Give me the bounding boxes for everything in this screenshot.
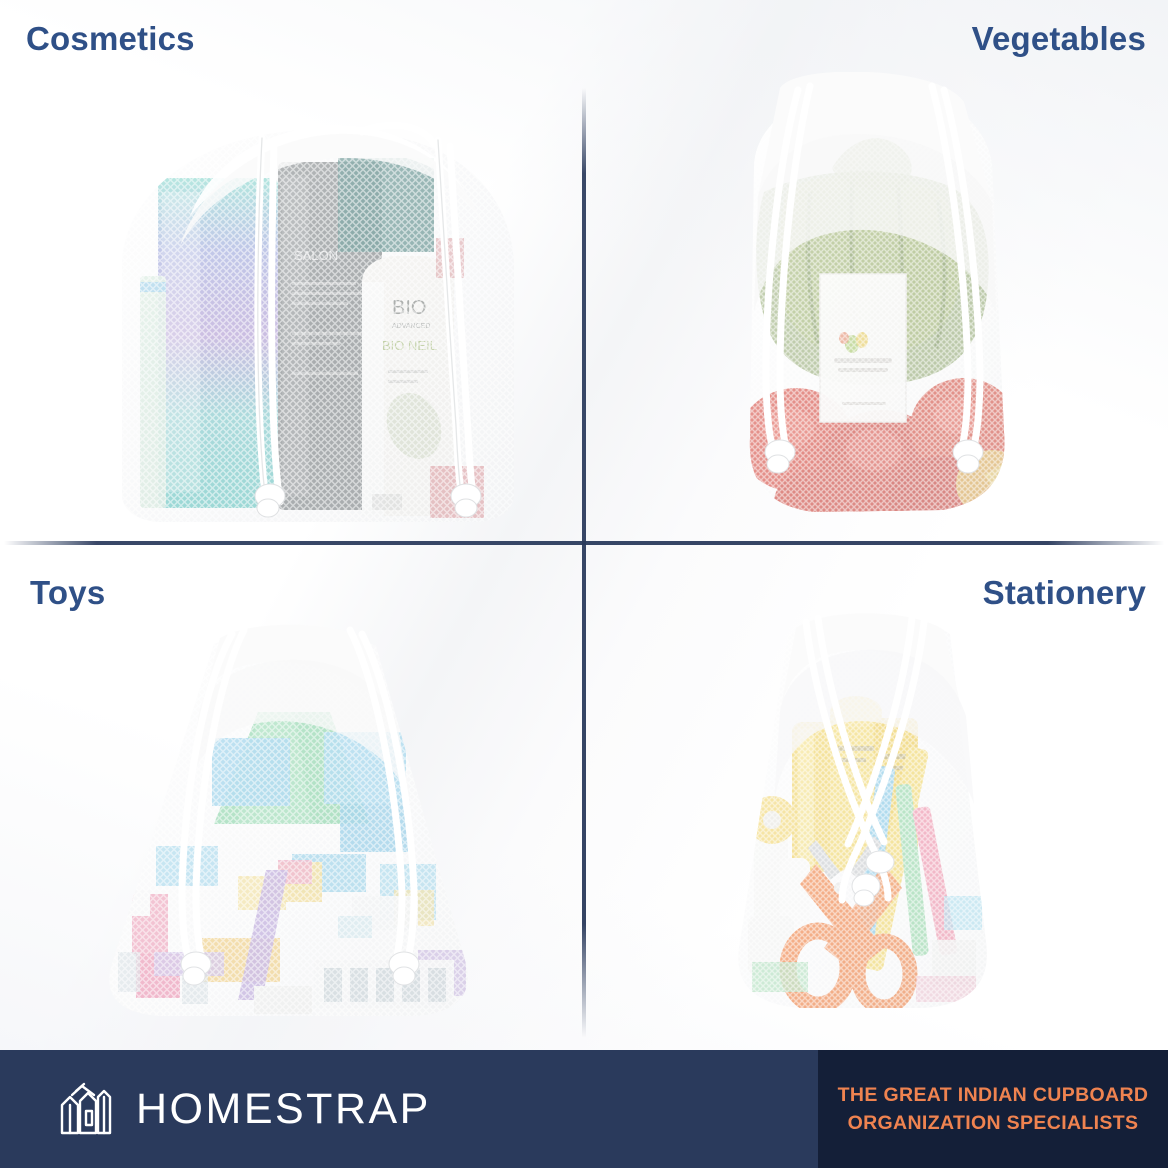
- quadrant-label-stationery: Stationery: [983, 574, 1146, 612]
- quadrant-label-toys: Toys: [30, 574, 105, 612]
- product-collage-image: SALON BIO ADVANCED BIO NEIL: [0, 0, 1168, 1168]
- brand-banner: HOMESTRAP THE GREAT INDIAN CUPBOARD ORGA…: [0, 1050, 1168, 1168]
- cosmetics-product-photo: SALON BIO ADVANCED BIO NEIL: [62, 96, 532, 528]
- cosmetics-mesh-bag-illustration: SALON BIO ADVANCED BIO NEIL: [62, 96, 532, 528]
- brand-banner-left-panel: HOMESTRAP: [0, 1050, 818, 1168]
- stationery-mesh-bag-illustration: [688, 596, 1058, 1028]
- vegetables-product-photo: [692, 72, 1062, 534]
- vegetables-mesh-bag-illustration: [692, 72, 1062, 534]
- brand-banner-tagline-panel: THE GREAT INDIAN CUPBOARD ORGANIZATION S…: [818, 1050, 1168, 1168]
- brand-wordmark: HOMESTRAP: [136, 1088, 431, 1131]
- toys-product-photo: [62, 608, 522, 1030]
- quadrant-divider-horizontal: [4, 541, 1164, 545]
- stationery-product-photo: [688, 596, 1058, 1028]
- quadrant-label-cosmetics: Cosmetics: [26, 20, 195, 58]
- quadrant-label-vegetables: Vegetables: [972, 20, 1146, 58]
- tagline-line-1: THE GREAT INDIAN CUPBOARD: [838, 1084, 1149, 1107]
- house-logo-icon: [58, 1081, 114, 1137]
- toys-mesh-bag-illustration: [62, 608, 522, 1030]
- tagline-line-2: ORGANIZATION SPECIALISTS: [848, 1112, 1139, 1135]
- quadrant-divider-vertical: [582, 88, 586, 1038]
